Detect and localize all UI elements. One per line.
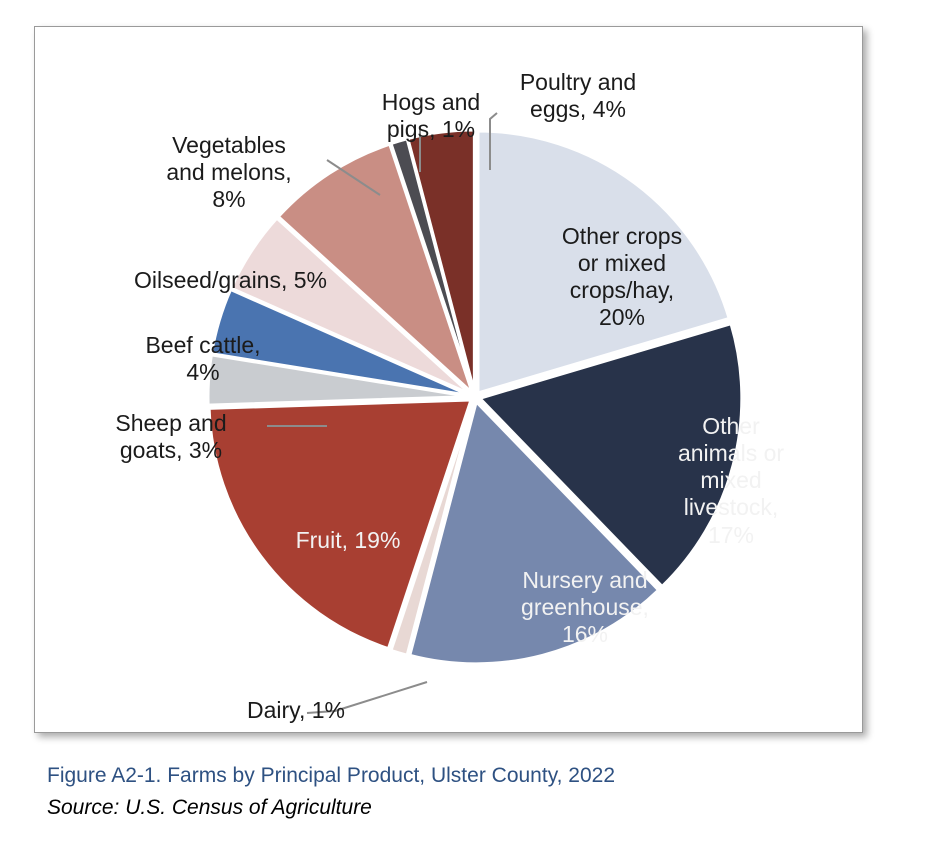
figure-caption: Figure A2-1. Farms by Principal Product,… bbox=[47, 762, 887, 822]
callout-label-dairy: Dairy, 1% bbox=[185, 697, 345, 724]
figure-title: Figure A2-1. Farms by Principal Product,… bbox=[47, 762, 887, 790]
callout-label-poultry-eggs: Poultry and eggs, 4% bbox=[483, 69, 673, 123]
chart-card: Other crops or mixed crops/hay, 20% Othe… bbox=[34, 26, 863, 733]
figure-container: Other crops or mixed crops/hay, 20% Othe… bbox=[0, 0, 926, 856]
figure-source: Source: U.S. Census of Agriculture bbox=[47, 793, 887, 822]
leader-dairy bbox=[307, 682, 427, 713]
pie-svg bbox=[205, 127, 745, 667]
pie-chart bbox=[205, 127, 745, 667]
